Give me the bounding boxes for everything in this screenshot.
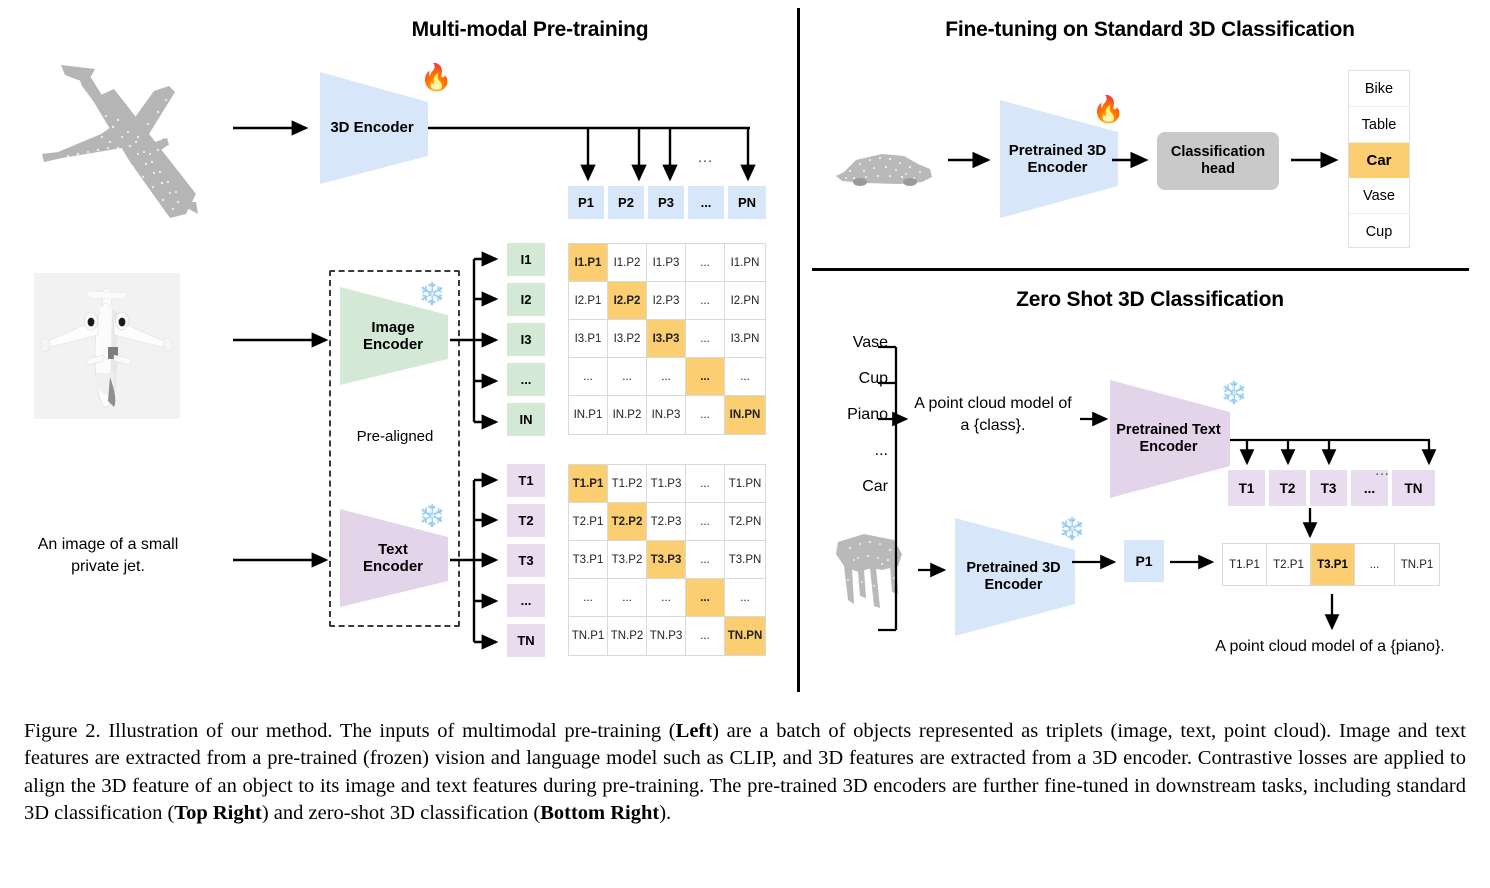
zeroshot-t-cell: T3: [1310, 470, 1349, 506]
classification-head[interactable]: Classification head: [1157, 132, 1279, 190]
text-point-similarity-matrix: T1.P1 T1.P2 T1.P3 ... T1.PN T2.P1 T2.P2 …: [568, 464, 766, 659]
encoder3d-label-line2: Encoder: [984, 577, 1042, 593]
matrix-cell: T3.P3: [646, 540, 686, 579]
pretrained-text-encoder-label: Pretrained Text Encoder: [1116, 422, 1221, 455]
zeroshot-t-cell: T1: [1228, 470, 1267, 506]
encoder-label-line1: Pretrained 3D: [1009, 142, 1107, 159]
matrix-cell: ...: [685, 502, 725, 541]
score-cell: T1.P1: [1222, 543, 1267, 586]
prompt-template: A point cloud model of a {class}.: [908, 393, 1078, 436]
zeroshot-t-cell: T2: [1269, 470, 1308, 506]
matrix-cell: ...: [685, 243, 725, 282]
score-cell-selected: T3.P1: [1310, 543, 1355, 586]
caption-text-p4: ).: [659, 802, 671, 824]
caption-bold-bottomright: Bottom Right: [540, 802, 659, 824]
matrix-cell: ...: [607, 578, 647, 617]
image-encoder-label-line1: Image: [371, 319, 414, 336]
matrix-cell: T2.P1: [568, 502, 608, 541]
matrix-cell: T1.P2: [607, 464, 647, 503]
encoder-3d-label: 3D Encoder: [330, 119, 413, 136]
svg-text:…: …: [697, 149, 713, 166]
p-feature-cell: P3: [648, 186, 686, 219]
matrix-cell: ...: [685, 540, 725, 579]
matrix-cell: I3.PN: [724, 319, 766, 358]
matrix-cell: ...: [685, 319, 725, 358]
caption-bold-topright: Top Right: [174, 802, 262, 824]
snowflake-icon: ❄️: [1058, 518, 1085, 540]
matrix-cell: ...: [685, 281, 725, 320]
matrix-cell: ...: [646, 357, 686, 396]
t-feature-cell: T1: [507, 464, 545, 497]
class-list-item-selected[interactable]: Car: [1349, 143, 1409, 178]
matrix-cell: T2.P3: [646, 502, 686, 541]
class-list-item[interactable]: Cup: [1349, 214, 1409, 249]
image-point-similarity-matrix: I1.P1 I1.P2 I1.P3 ... I1.PN I2.P1 I2.P2 …: [568, 243, 766, 438]
p-feature-cell: ...: [688, 186, 726, 219]
matrix-cell: TN.PN: [724, 616, 766, 656]
zeroshot-class-item: Cup: [824, 370, 888, 406]
matrix-cell: IN.P1: [568, 395, 608, 435]
matrix-cell: I3.P1: [568, 319, 608, 358]
matrix-cell: ...: [646, 578, 686, 617]
matrix-cell: ...: [724, 578, 766, 617]
zeroshot-class-item: Car: [824, 478, 888, 514]
class-list-item[interactable]: Vase: [1349, 178, 1409, 214]
matrix-cell: ...: [685, 357, 725, 396]
panel-divider-horizontal: [812, 268, 1469, 271]
matrix-cell: TN.P3: [646, 616, 686, 656]
matrix-cell: TN.P2: [607, 616, 647, 656]
matrix-cell: ...: [685, 464, 725, 503]
matrix-cell: ...: [724, 357, 766, 396]
p1-feature-box: P1: [1124, 540, 1164, 582]
matrix-cell: I1.P2: [607, 243, 647, 282]
text-encoder-label: Text Encoder: [363, 541, 423, 576]
panel-divider-vertical: [797, 8, 800, 692]
airplane-point-cloud: [18, 42, 248, 232]
matrix-cell: I2.PN: [724, 281, 766, 320]
t-feature-cell: T2: [507, 504, 545, 537]
zeroshot-result: A point cloud model of a {piano}.: [1180, 638, 1480, 656]
flame-icon: 🔥: [1092, 96, 1124, 122]
i-feature-cell: ...: [507, 363, 545, 396]
matrix-cell: T3.PN: [724, 540, 766, 579]
head-label-line2: head: [1201, 161, 1235, 177]
airplane-render-image: [34, 273, 180, 419]
pretrained-text-encoder[interactable]: Pretrained Text Encoder: [1110, 380, 1232, 498]
matrix-cell: I2.P1: [568, 281, 608, 320]
t-feature-cell: TN: [507, 624, 545, 657]
classification-head-label: Classification head: [1171, 144, 1265, 179]
matrix-cell: I1.PN: [724, 243, 766, 282]
matrix-cell: I1.P1: [568, 243, 608, 282]
i-feature-cell: I1: [507, 243, 545, 276]
matrix-cell: T2.P2: [607, 502, 647, 541]
i-feature-cell: I3: [507, 323, 545, 356]
left-panel-title: Multi-modal Pre-training: [280, 18, 780, 42]
caption-bold-left: Left: [676, 720, 712, 742]
matrix-cell: ...: [685, 616, 725, 656]
matrix-cell: T1.PN: [724, 464, 766, 503]
zeroshot-class-item: Piano: [824, 406, 888, 442]
p-feature-cell: P1: [568, 186, 606, 219]
flame-icon: 🔥: [420, 64, 452, 90]
top-right-panel-title: Fine-tuning on Standard 3D Classificatio…: [870, 18, 1430, 42]
score-cell: TN.P1: [1394, 543, 1440, 586]
encoder3d-label-line1: Pretrained 3D: [966, 560, 1060, 576]
image-encoder-label-line2: Encoder: [363, 336, 423, 353]
text-encoder-label-line1: Text: [378, 541, 408, 558]
prompt-line1: A point cloud model of: [914, 395, 1071, 412]
score-cell: ...: [1354, 543, 1395, 586]
score-cell: T2.P1: [1266, 543, 1311, 586]
text-encoder-label-line2: Encoder: [363, 558, 423, 575]
matrix-cell: ...: [568, 357, 608, 396]
zeroshot-class-list: Vase Cup Piano ... Car: [824, 334, 888, 514]
i-feature-cell: I2: [507, 283, 545, 316]
class-list: Bike Table Car Vase Cup: [1348, 70, 1410, 248]
matrix-cell: TN.P1: [568, 616, 608, 656]
t-feature-cell: T3: [507, 544, 545, 577]
matrix-cell: I2.P2: [607, 281, 647, 320]
zeroshot-score-row: T1.P1 T2.P1 T3.P1 ... TN.P1: [1222, 543, 1440, 586]
matrix-cell: ...: [685, 395, 725, 435]
p-feature-cell: P2: [608, 186, 646, 219]
matrix-cell: ...: [568, 578, 608, 617]
pre-aligned-label: Pre-aligned: [340, 428, 450, 445]
pretrained-3d-encoder-label: Pretrained 3D Encoder: [1009, 142, 1107, 177]
car-point-cloud: [830, 136, 940, 196]
figure-caption: Figure 2. Illustration of our method. Th…: [24, 718, 1466, 827]
i-feature-cell: IN: [507, 403, 545, 436]
prompt-line2: a {class}.: [961, 417, 1026, 434]
matrix-cell: T2.PN: [724, 502, 766, 541]
matrix-cell: IN.P2: [607, 395, 647, 435]
matrix-cell: IN.PN: [724, 395, 766, 435]
matrix-cell: ...: [685, 578, 725, 617]
t-feature-cell: ...: [507, 584, 545, 617]
matrix-cell: I1.P3: [646, 243, 686, 282]
figure-canvas: Multi-modal Pre-training: [0, 0, 1490, 888]
class-list-item[interactable]: Table: [1349, 107, 1409, 143]
caption-text-p1: Figure 2. Illustration of our method. Th…: [24, 720, 676, 742]
image-encoder-label: Image Encoder: [363, 319, 423, 354]
matrix-cell: T3.P1: [568, 540, 608, 579]
pretrained-3d-encoder-zeroshot-label: Pretrained 3D Encoder: [966, 560, 1060, 593]
zeroshot-t-cell: ...: [1351, 470, 1390, 506]
matrix-cell: IN.P3: [646, 395, 686, 435]
matrix-cell: I3.P2: [607, 319, 647, 358]
text-encoder-label-line2: Encoder: [1139, 439, 1197, 455]
matrix-cell: ...: [607, 357, 647, 396]
snowflake-icon: ❄️: [1220, 382, 1247, 404]
bottom-right-panel-title: Zero Shot 3D Classification: [900, 288, 1400, 312]
zeroshot-t-cell: TN: [1392, 470, 1435, 506]
p-feature-cell: PN: [728, 186, 766, 219]
piano-point-cloud: [828, 520, 918, 620]
matrix-cell: I3.P3: [646, 319, 686, 358]
encoder-label-line2: Encoder: [1027, 159, 1087, 176]
matrix-cell: T1.P1: [568, 464, 608, 503]
matrix-cell: I2.P3: [646, 281, 686, 320]
head-label-line1: Classification: [1171, 144, 1265, 160]
matrix-cell: T1.P3: [646, 464, 686, 503]
zeroshot-class-item: Vase: [824, 334, 888, 370]
snowflake-icon: ❄️: [418, 283, 445, 305]
encoder-3d[interactable]: 3D Encoder: [320, 72, 430, 184]
text-encoder-label-line1: Pretrained Text: [1116, 422, 1221, 438]
snowflake-icon: ❄️: [418, 505, 445, 527]
class-list-item[interactable]: Bike: [1349, 71, 1409, 107]
matrix-cell: T3.P2: [607, 540, 647, 579]
zeroshot-class-item: ...: [824, 442, 888, 478]
caption-text-p3: ) and zero-shot 3D classification (: [262, 802, 540, 824]
text-input-caption: An image of a small private jet.: [28, 534, 188, 577]
